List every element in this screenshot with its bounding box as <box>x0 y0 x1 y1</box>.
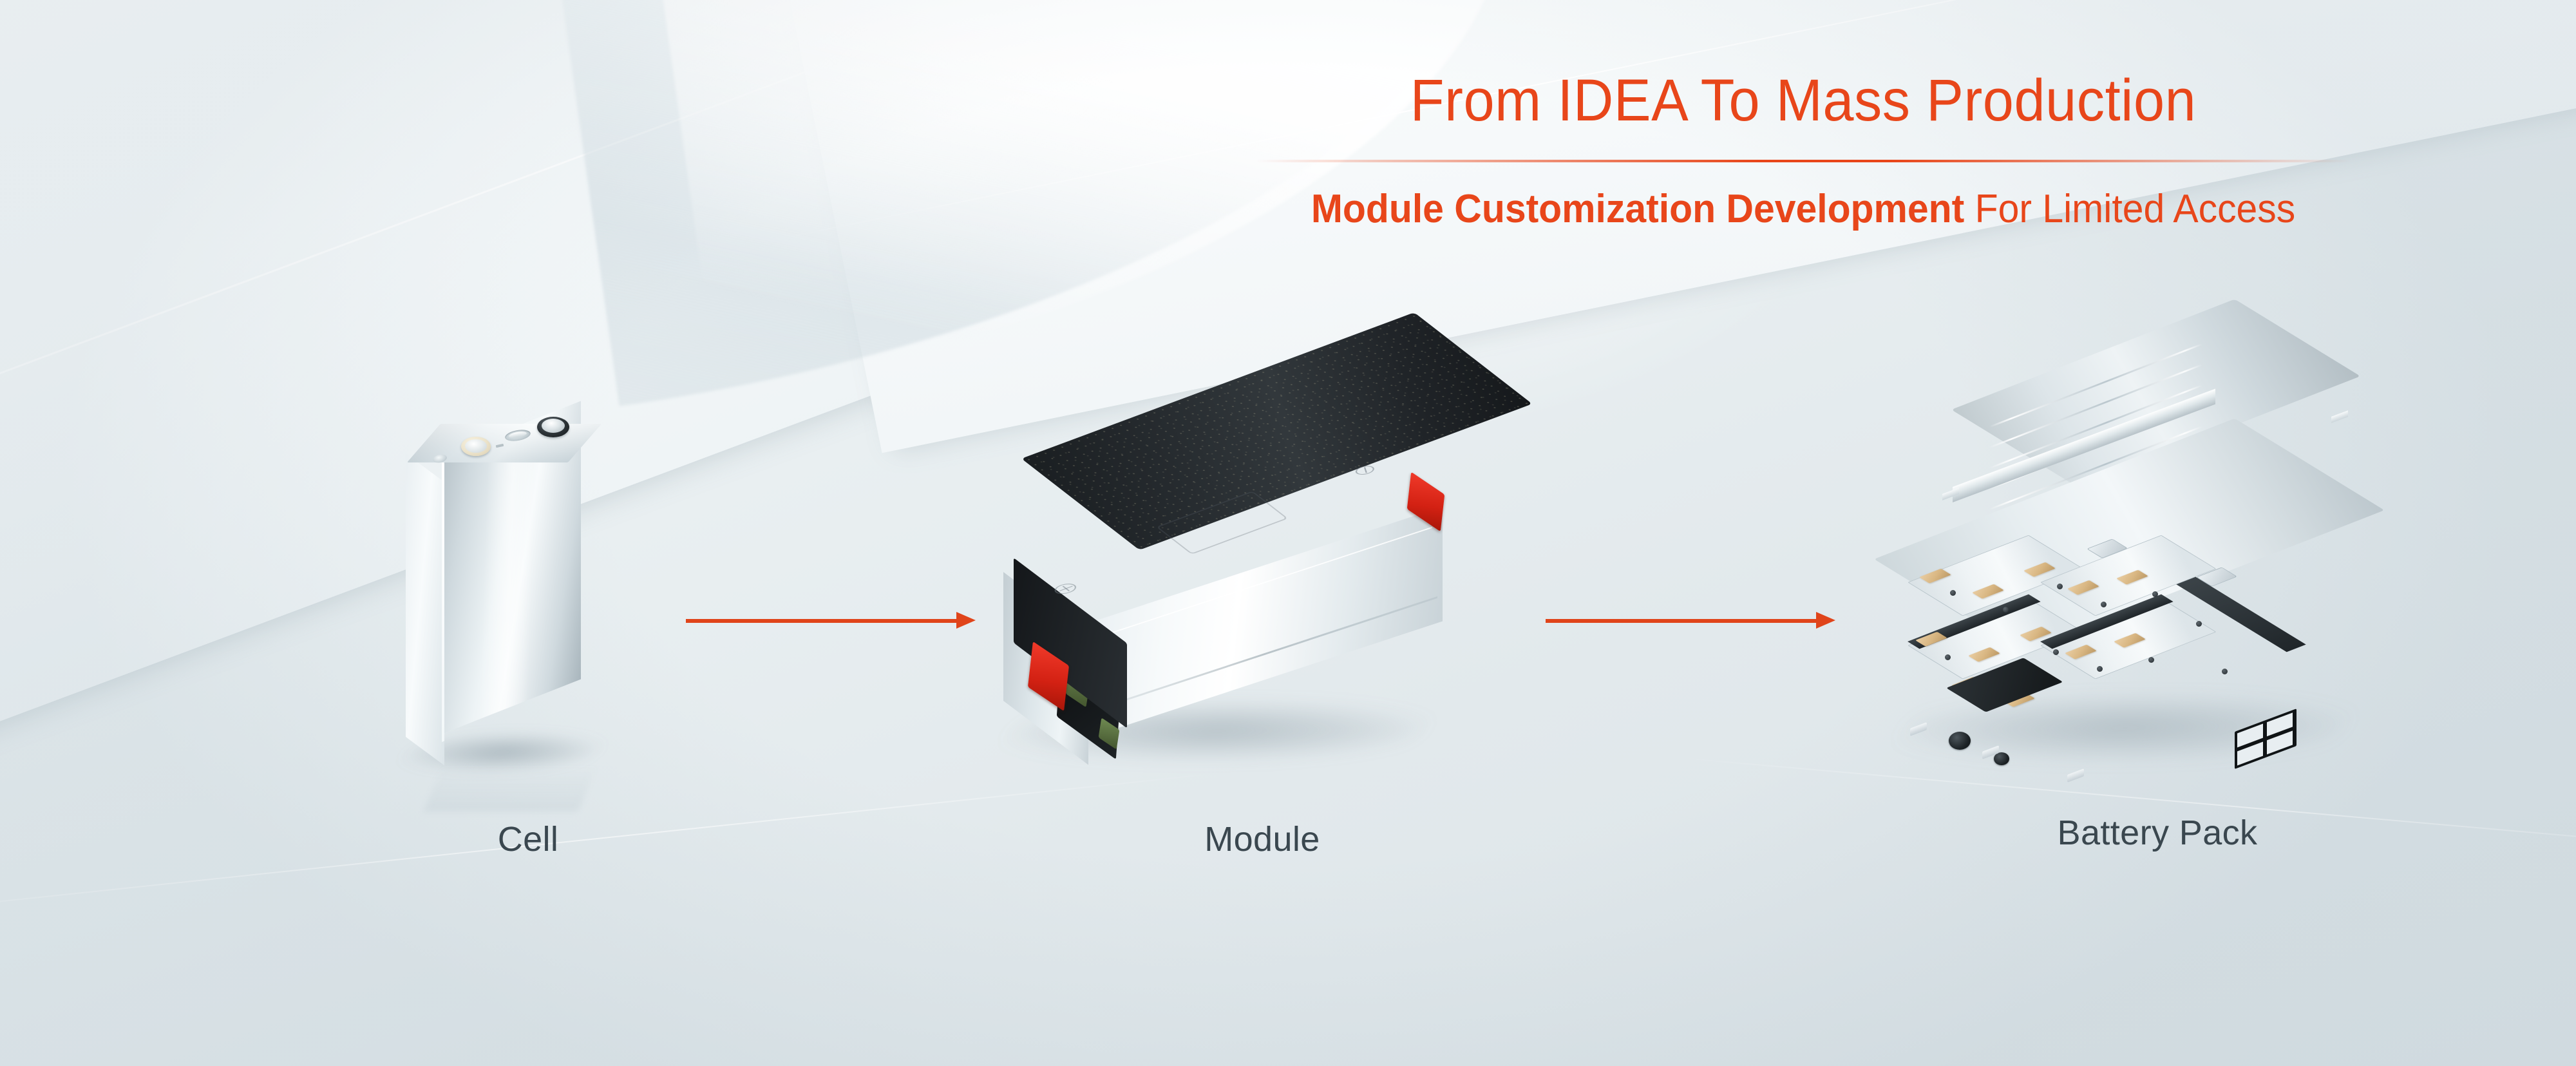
hero-banner: From IDEA To Mass Production Module Cust… <box>0 0 2576 1066</box>
pack-bolt <box>1945 654 1951 660</box>
cell-side-face <box>406 453 444 765</box>
cell-negative-terminal-rim <box>542 419 565 433</box>
pack-bolt <box>2101 602 2107 607</box>
stage-label-battery-pack: Battery Pack <box>1971 813 2344 853</box>
arrow-shaft <box>686 619 958 623</box>
pack-bolt <box>2152 591 2158 597</box>
stage-label-cell: Cell <box>386 819 670 859</box>
arrow-shaft <box>1546 619 1817 623</box>
pack-mount-foot <box>1910 722 1927 736</box>
pack-bolt <box>1950 590 1956 596</box>
cell-reflection <box>424 747 604 812</box>
flow-arrow-cell-to-module <box>686 617 976 623</box>
pack-bolt <box>2003 607 2009 613</box>
subtitle-emphasis: Module Customization Development <box>1311 187 1964 231</box>
pack-bolt <box>2148 657 2154 663</box>
flow-arrow-module-to-pack <box>1546 617 1835 623</box>
pack-mount-foot <box>2067 768 2084 783</box>
product-cell <box>399 412 657 812</box>
fold-crease-line-1 <box>0 0 1298 475</box>
cell-edge-seam <box>442 450 444 742</box>
pack-bolt <box>2057 584 2063 589</box>
arrow-head-icon <box>956 612 976 629</box>
pack-bolt <box>2222 669 2228 674</box>
header-block: From IDEA To Mass Production Module Cust… <box>1211 71 2396 230</box>
pack-lid-flange-right <box>2331 410 2348 423</box>
product-module <box>992 444 1481 805</box>
stage-label-module: Module <box>1121 819 1404 859</box>
page-subtitle: Module Customization Development For Lim… <box>1240 188 2366 230</box>
page-title: From IDEA To Mass Production <box>1246 71 2360 131</box>
pack-tray <box>1874 559 2409 791</box>
pack-lv-connector <box>1994 752 2009 765</box>
arrow-head-icon <box>1816 612 1835 629</box>
pack-bolt <box>2097 666 2103 672</box>
cell-positive-terminal-rim <box>465 439 487 453</box>
subtitle-suffix: For Limited Access <box>1964 187 2295 231</box>
title-divider <box>1256 160 2351 162</box>
pack-hv-connector <box>1949 732 1971 750</box>
pack-bolt <box>2196 621 2202 627</box>
pack-bolt <box>2053 649 2059 655</box>
pack-extrusion-cutaway <box>2235 709 2297 769</box>
product-battery-pack <box>1855 406 2421 812</box>
